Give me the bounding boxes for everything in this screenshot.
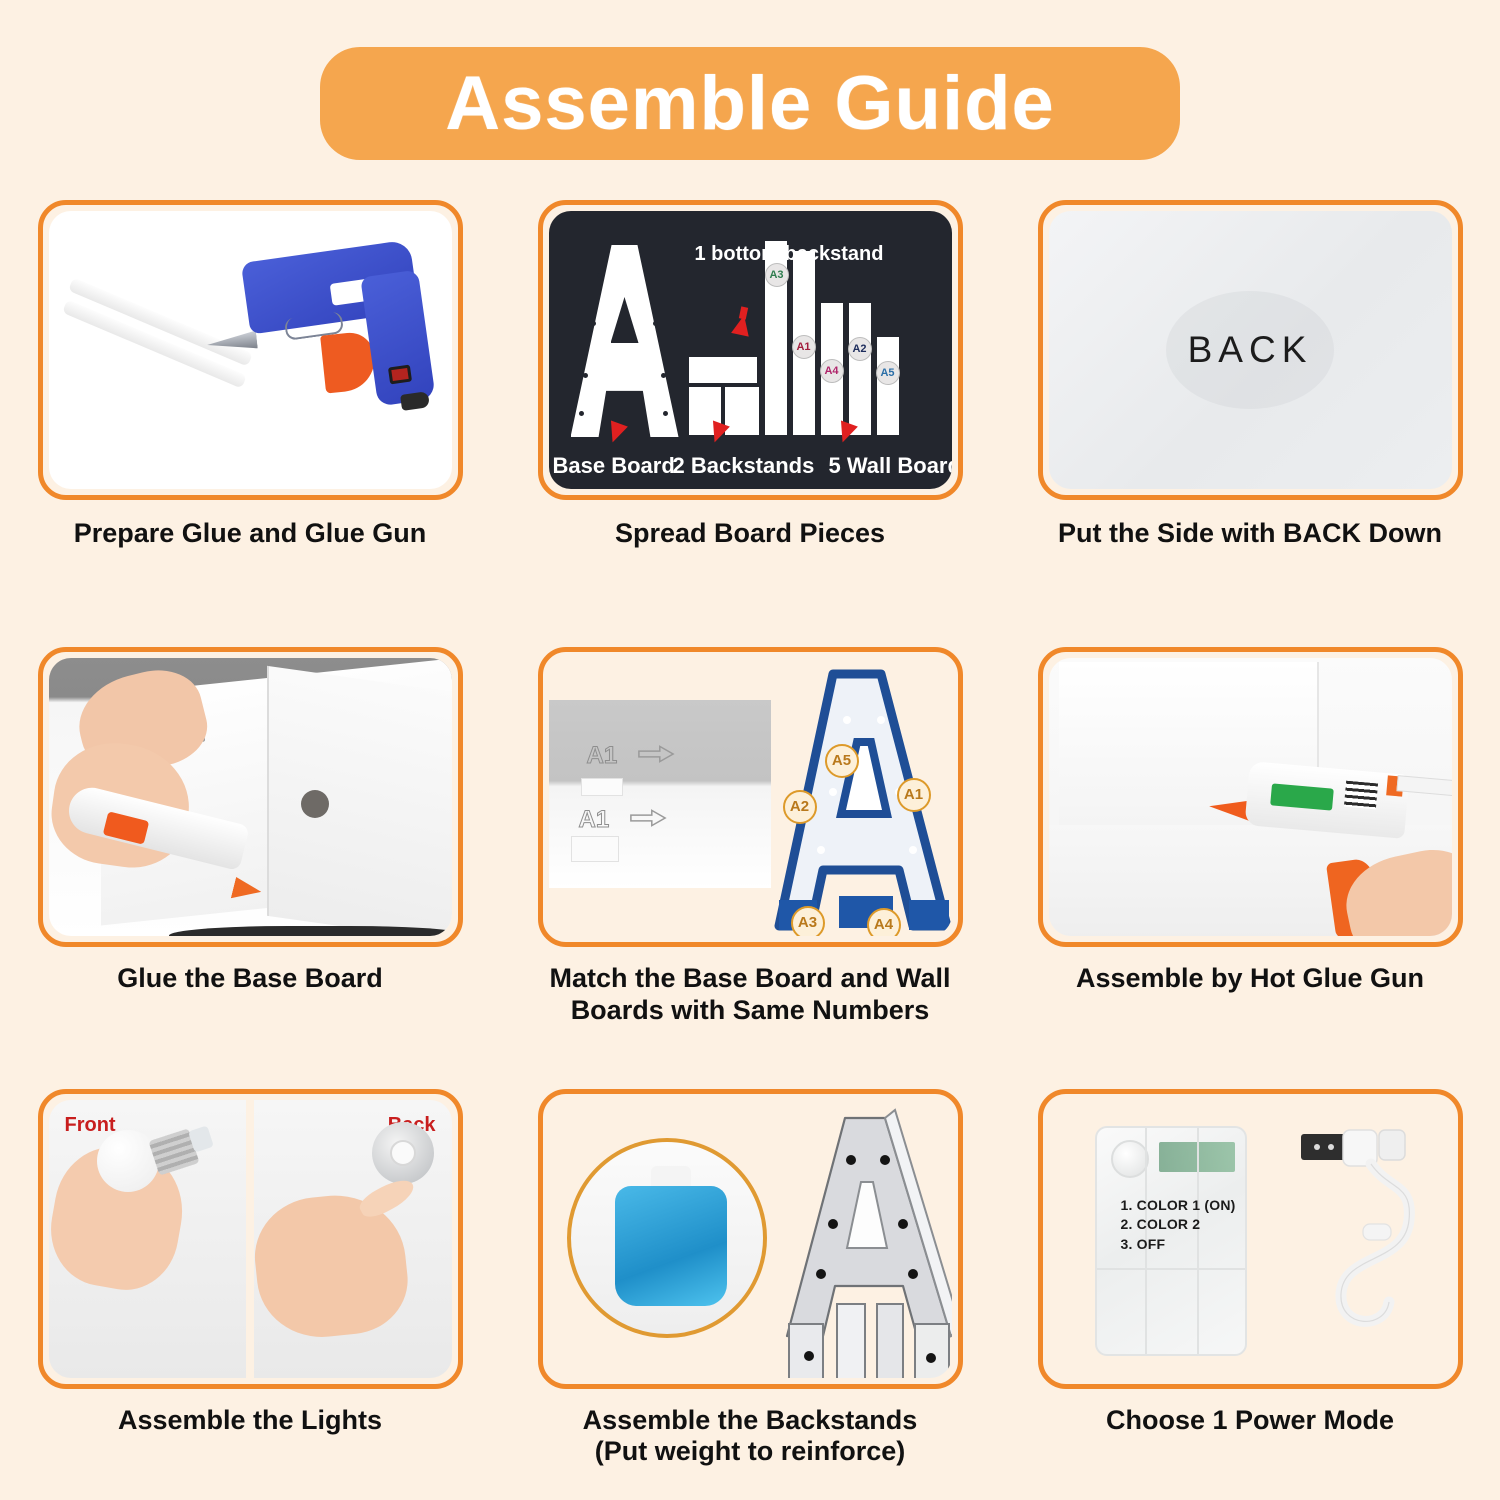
step-assemble-lights: Front Back xyxy=(0,1089,500,1469)
lights-front-view: Front xyxy=(49,1100,247,1378)
badge-a4: A4 xyxy=(820,359,844,383)
board-hole-icon xyxy=(663,411,668,416)
board-pieces-diagram: A3 A1 A2 A4 A5 1 bottom backstand Base B… xyxy=(549,211,952,489)
step-assemble-backstands-panel xyxy=(538,1089,963,1389)
badge-a5: A5 xyxy=(876,361,900,385)
back-board-photo: BACK xyxy=(1049,211,1452,489)
glue-gun-cord-icon xyxy=(400,391,430,411)
step-caption-line-1: Assemble the Backstands xyxy=(583,1405,918,1435)
glue-gun-switch-icon xyxy=(387,365,411,385)
page-title: Assemble Guide xyxy=(445,66,1055,142)
power-mode-1: 1. COLOR 1 (ON) xyxy=(1121,1196,1236,1216)
step-caption: Assemble the Lights xyxy=(118,1405,382,1437)
step-prepare-glue-panel xyxy=(38,200,463,500)
board-tab-icon xyxy=(571,836,619,862)
label-base-board: Base Board xyxy=(553,453,675,479)
step-caption: Glue the Base Board xyxy=(117,963,383,995)
hot-glue-gun-photo xyxy=(1049,658,1452,936)
glue-base-board-photo xyxy=(49,658,452,936)
backstand-piece-icon xyxy=(689,357,757,383)
board-hole-icon xyxy=(583,373,588,378)
divider xyxy=(1097,1268,1245,1270)
badge-a4: A4 xyxy=(867,908,901,936)
step-caption-line-1: Match the Base Board and Wall xyxy=(549,963,950,993)
step-assemble-lights-panel: Front Back xyxy=(38,1089,463,1389)
step-glue-base-board: Glue the Base Board xyxy=(0,647,500,1027)
board-hole-icon xyxy=(579,411,584,416)
glue-gun-vent-icon xyxy=(1343,781,1377,810)
step-caption: Assemble the Backstands (Put weight to r… xyxy=(583,1405,918,1469)
step-prepare-glue: Prepare Glue and Glue Gun xyxy=(0,200,500,550)
table-edge-icon xyxy=(169,926,452,936)
finger-icon xyxy=(356,1173,418,1221)
step-back-down: BACK Put the Side with BACK Down xyxy=(1000,200,1500,550)
label-wall-boards: 5 Wall Boards xyxy=(829,453,952,479)
step-spread-board-panel: A3 A1 A2 A4 A5 1 bottom backstand Base B… xyxy=(538,200,963,500)
arrow-right-icon xyxy=(629,808,667,828)
badge-a3: A3 xyxy=(791,906,825,936)
step-assemble-hot-glue-panel xyxy=(1038,647,1463,947)
board-hole-icon xyxy=(591,321,596,326)
step-back-down-panel: BACK xyxy=(1038,200,1463,500)
power-mode-3: 3. OFF xyxy=(1121,1235,1236,1255)
lights-back-view: Back xyxy=(254,1100,452,1378)
step-assemble-hot-glue: Assemble by Hot Glue Gun xyxy=(1000,647,1500,1027)
wall-board-a2 xyxy=(849,303,871,435)
step-spread-board: A3 A1 A2 A4 A5 1 bottom backstand Base B… xyxy=(500,200,1000,550)
step-match-numbers-panel: A1 A1 xyxy=(538,647,963,947)
usb-cable-icon xyxy=(1293,1124,1452,1354)
marking-a1-lower: A1 xyxy=(579,806,610,834)
step-caption-line-2: Boards with Same Numbers xyxy=(571,995,930,1025)
hand-icon xyxy=(249,1188,413,1343)
match-numbers-photo: A1 A1 xyxy=(549,658,952,936)
letter-a-with-backstands-icon xyxy=(775,1108,952,1378)
step-match-numbers: A1 A1 xyxy=(500,647,1000,1027)
badge-a1: A1 xyxy=(792,335,816,359)
front-label: Front xyxy=(65,1114,116,1137)
badge-a2: A2 xyxy=(848,337,872,361)
step-caption: Spread Board Pieces xyxy=(615,518,885,550)
badge-a3: A3 xyxy=(765,263,789,287)
power-mode-list: 1. COLOR 1 (ON) 2. COLOR 2 3. OFF xyxy=(1121,1196,1236,1256)
marking-a1-upper: A1 xyxy=(587,742,618,770)
badge-a5: A5 xyxy=(825,744,859,778)
steps-row-2: Glue the Base Board A1 A1 xyxy=(0,647,1500,1027)
steps-row-1: Prepare Glue and Glue Gun xyxy=(0,200,1500,550)
step-caption: Put the Side with BACK Down xyxy=(1058,518,1442,550)
steps-grid: Prepare Glue and Glue Gun xyxy=(0,200,1500,1468)
power-switch-icon xyxy=(1111,1140,1149,1178)
assemble-guide-page: Assemble Guide xyxy=(0,0,1500,1500)
badge-a2: A2 xyxy=(783,790,817,824)
board-hole-icon xyxy=(597,273,602,278)
arrow-right-icon xyxy=(637,744,675,764)
step-caption-line-2: (Put weight to reinforce) xyxy=(595,1436,906,1466)
board-hole-icon xyxy=(653,321,658,326)
water-bag-icon xyxy=(615,1186,727,1306)
power-mode-2: 2. COLOR 2 xyxy=(1121,1215,1236,1235)
badge-a1: A1 xyxy=(897,778,931,812)
backstands-photo xyxy=(549,1100,952,1378)
board-hole-icon xyxy=(661,373,666,378)
board-hole-icon xyxy=(645,273,650,278)
step-glue-base-board-panel xyxy=(38,647,463,947)
step-caption: Assemble by Hot Glue Gun xyxy=(1076,963,1424,995)
bottom-backstand-note: 1 bottom backstand xyxy=(695,243,884,266)
glue-gun-photo xyxy=(49,211,452,489)
title-banner: Assemble Guide xyxy=(320,47,1180,160)
power-mode-photo: 1. COLOR 1 (ON) 2. COLOR 2 3. OFF xyxy=(1049,1100,1452,1378)
board-tab-icon xyxy=(581,778,623,796)
bulb-hole-icon xyxy=(301,790,329,818)
back-label: BACK xyxy=(1188,329,1313,371)
step-power-mode: 1. COLOR 1 (ON) 2. COLOR 2 3. OFF xyxy=(1000,1089,1500,1469)
step-power-mode-panel: 1. COLOR 1 (ON) 2. COLOR 2 3. OFF xyxy=(1038,1089,1463,1389)
glue-gun-handle-icon xyxy=(360,270,436,407)
step-caption: Prepare Glue and Glue Gun xyxy=(74,518,427,550)
led-bulb-icon xyxy=(97,1130,159,1192)
side-board-icon xyxy=(267,666,452,936)
arrow-up-icon xyxy=(604,421,628,446)
step-caption: Choose 1 Power Mode xyxy=(1106,1405,1394,1437)
step-caption: Match the Base Board and Wall Boards wit… xyxy=(549,963,950,1027)
water-bag-inset xyxy=(567,1138,767,1338)
wall-board-a5 xyxy=(877,337,899,435)
step-assemble-backstands: Assemble the Backstands (Put weight to r… xyxy=(500,1089,1000,1469)
steps-row-3: Front Back xyxy=(0,1089,1500,1469)
backstand-piece-icon xyxy=(725,387,759,435)
socket-center-icon xyxy=(390,1140,416,1166)
lights-photo: Front Back xyxy=(49,1100,452,1378)
label-backstands: 2 Backstands xyxy=(673,453,815,479)
battery-box-icon: 1. COLOR 1 (ON) 2. COLOR 2 3. OFF xyxy=(1095,1126,1247,1356)
